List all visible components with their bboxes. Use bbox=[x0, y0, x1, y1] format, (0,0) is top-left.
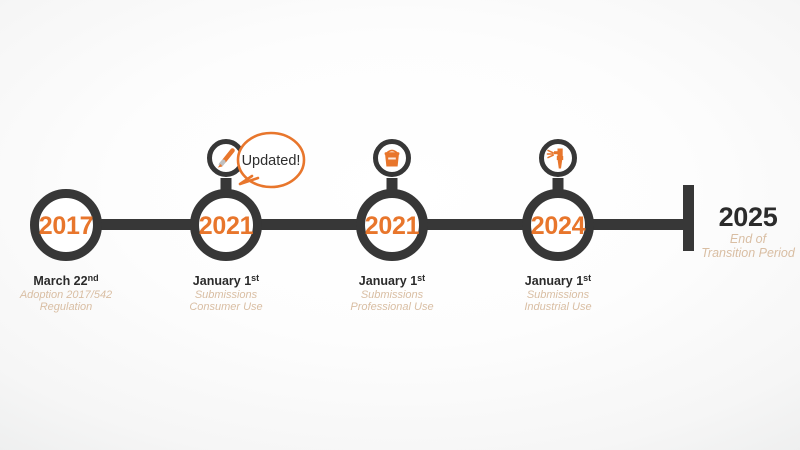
end-marker-2025: 2025 End of Transition Period bbox=[701, 202, 796, 260]
timeline-node-2021-professional[interactable]: 2021 bbox=[361, 194, 424, 257]
node-icon-badge-2021-professional[interactable] bbox=[376, 142, 409, 175]
timeline-infographic: 2017 March 22nd Adoption 2017/542 Regula… bbox=[0, 0, 800, 450]
timeline-canvas: 2017 March 22nd Adoption 2017/542 Regula… bbox=[0, 0, 800, 450]
node-year-label: 2021 bbox=[365, 212, 420, 240]
caption-line-1: Submissions bbox=[195, 289, 258, 301]
caption-title-suffix: st bbox=[417, 273, 425, 283]
caption-line-1: Adoption 2017/542 bbox=[19, 289, 112, 301]
end-sub-line-2: Transition Period bbox=[701, 246, 796, 260]
paint-bucket-icon bbox=[385, 151, 400, 167]
caption-line-2: Professional Use bbox=[350, 301, 433, 313]
timeline-node-2021-consumer[interactable]: 2021 bbox=[195, 194, 258, 257]
timeline-caption-2021-professional: January 1st Submissions Professional Use bbox=[350, 273, 433, 313]
svg-text:March 22nd: March 22nd bbox=[33, 273, 98, 288]
node-year-label: 2017 bbox=[39, 212, 93, 240]
svg-text:January 1st: January 1st bbox=[359, 273, 425, 288]
caption-title: January 1 bbox=[193, 274, 251, 288]
caption-title-suffix: st bbox=[583, 273, 591, 283]
caption-title: January 1 bbox=[359, 274, 417, 288]
end-year-label: 2025 bbox=[719, 202, 778, 232]
node-year-label: 2021 bbox=[199, 212, 254, 240]
caption-title-suffix: nd bbox=[88, 273, 99, 283]
timeline-caption-2024-industrial: January 1st Submissions Industrial Use bbox=[524, 273, 591, 313]
caption-line-2: Regulation bbox=[40, 301, 93, 313]
svg-text:January 1st: January 1st bbox=[193, 273, 259, 288]
caption-line-1: Submissions bbox=[361, 289, 424, 301]
svg-text:January 1st: January 1st bbox=[525, 273, 591, 288]
timeline-caption-2021-consumer: January 1st Submissions Consumer Use bbox=[189, 273, 262, 313]
updated-badge[interactable]: Updated! bbox=[238, 133, 304, 187]
caption-line-1: Submissions bbox=[527, 289, 590, 301]
end-sub-line-1: End of bbox=[730, 232, 768, 246]
caption-title: March 22 bbox=[33, 274, 87, 288]
timeline-node-2017[interactable]: 2017 bbox=[35, 194, 98, 257]
node-year-label: 2024 bbox=[531, 212, 586, 240]
caption-line-2: Consumer Use bbox=[189, 301, 262, 313]
caption-title: January 1 bbox=[525, 274, 583, 288]
bubble-label: Updated! bbox=[242, 153, 301, 169]
end-bar bbox=[683, 185, 694, 251]
caption-line-2: Industrial Use bbox=[524, 301, 591, 313]
node-icon-badge-2024-industrial[interactable] bbox=[542, 142, 575, 175]
caption-title-suffix: st bbox=[251, 273, 259, 283]
timeline-node-2024-industrial[interactable]: 2024 bbox=[527, 194, 590, 257]
timeline-caption-2017: March 22nd Adoption 2017/542 Regulation bbox=[19, 273, 112, 313]
